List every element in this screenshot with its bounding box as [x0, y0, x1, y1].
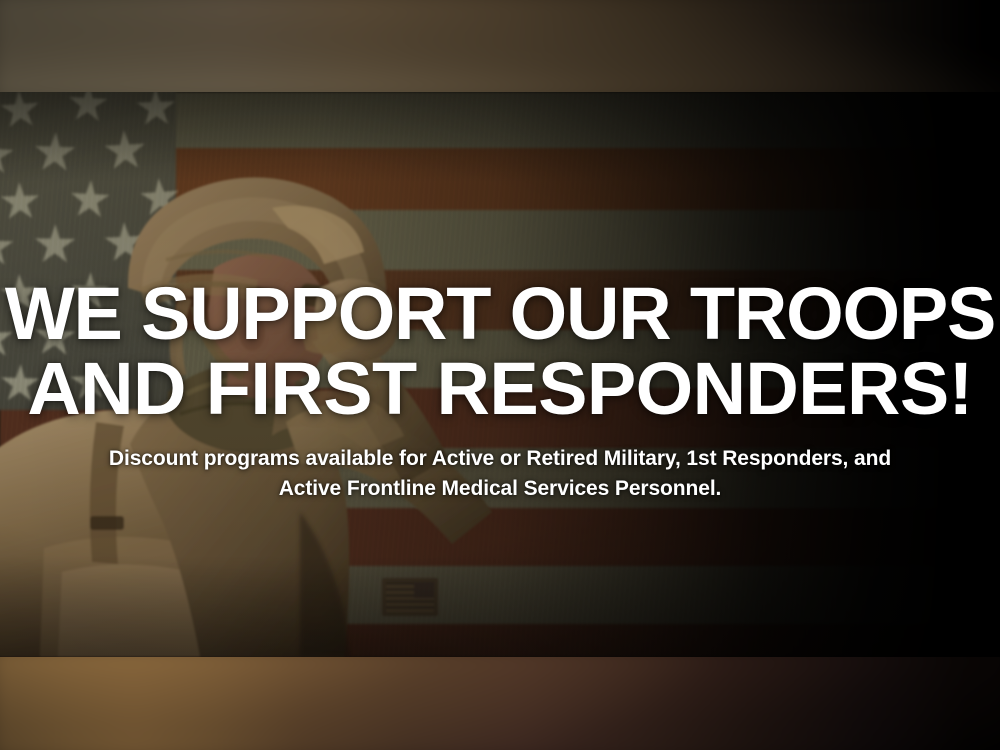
- letterbox-band-bottom: [0, 657, 1000, 750]
- hero-banner: WE SUPPORT OUR TROOPS AND FIRST RESPONDE…: [0, 0, 1000, 750]
- hero-photo: [0, 92, 1000, 657]
- letterbox-bottom-gradient: [0, 657, 1000, 750]
- vignette-right-fade: [0, 92, 1000, 657]
- letterbox-band-top: [0, 0, 1000, 92]
- letterbox-top-gradient: [0, 0, 1000, 92]
